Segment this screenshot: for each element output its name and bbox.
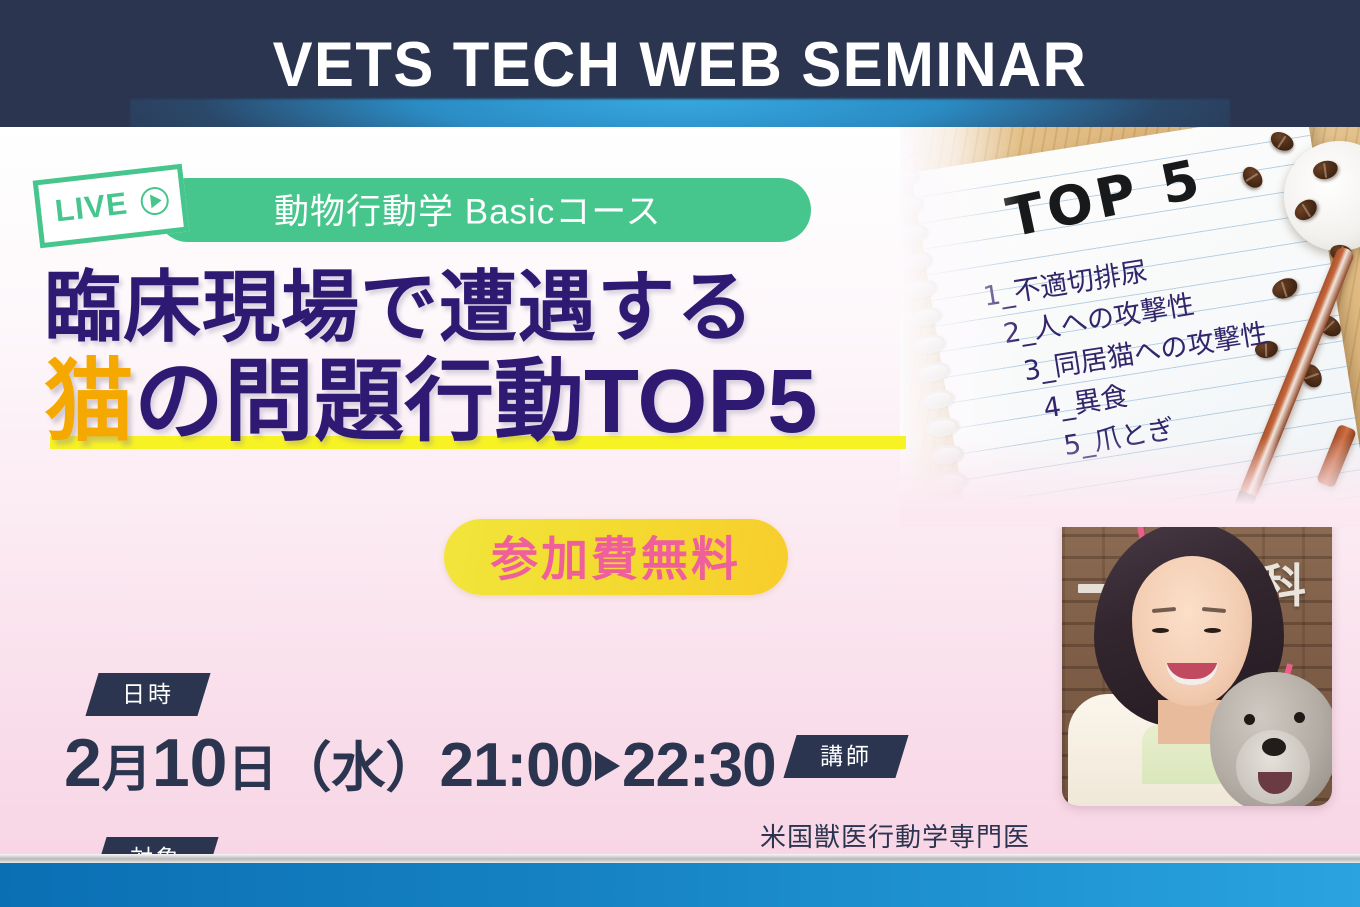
live-badge-label: LIVE <box>53 185 130 229</box>
title-line-2-wrapper: 猫の問題行動TOP5 <box>44 355 817 450</box>
date-month: 2 <box>64 725 102 801</box>
date-day-unit: 日 <box>227 741 277 797</box>
datetime-tag: 日時 <box>85 673 210 716</box>
footer-divider <box>0 854 1360 863</box>
free-participation-badge: 参加費無料 <box>444 519 788 595</box>
date-weekday: （水） <box>277 738 439 798</box>
free-participation-label: 参加費無料 <box>444 520 788 589</box>
date-month-unit: 月 <box>102 741 152 797</box>
poster-body: TOP 5 1_不適切排尿 2_人への攻撃性 3_同居猫への攻撃性 4_異食 5… <box>0 127 1360 854</box>
dog-nose <box>1262 738 1286 756</box>
start-time: 21:00 <box>439 731 593 800</box>
header-band: VETS TECH WEB SEMINAR <box>0 0 1360 127</box>
course-pill-label: 動物行動学 Basicコース <box>274 183 662 234</box>
title-line-1: 臨床現場で遭遇する <box>44 265 817 349</box>
datetime-value: 2月10日（水）21:0022:30 <box>64 729 776 797</box>
footer-band <box>0 863 1360 907</box>
course-pill: 動物行動学 Basicコース <box>156 178 811 242</box>
lecturer-credential: 米国獣医行動学専門医 <box>760 817 1030 854</box>
notebook-photo: TOP 5 1_不適切排尿 2_人への攻撃性 3_同居猫への攻撃性 4_異食 5… <box>900 127 1360 527</box>
title-line-2-rest: の問題行動TOP5 <box>134 352 817 452</box>
target-tag: 対象 <box>93 837 218 854</box>
page-title: VETS TECH WEB SEMINAR <box>34 34 1326 97</box>
lecturer-tag-label: 講師 <box>790 735 902 778</box>
title-highlight-char: 猫 <box>44 352 134 452</box>
title-line-2: 猫の問題行動TOP5 <box>44 355 817 450</box>
seminar-poster: VETS TECH WEB SEMINAR <box>0 0 1360 907</box>
end-time: 22:30 <box>622 731 776 800</box>
target-tag-label: 対象 <box>100 837 212 854</box>
play-circle-icon <box>139 186 170 217</box>
dog-eye <box>1244 714 1255 725</box>
datetime-tag-label: 日時 <box>92 673 204 716</box>
photo-fade-bottom <box>900 437 1360 527</box>
dog-eye <box>1294 712 1305 723</box>
instructor-eye <box>1152 628 1169 633</box>
live-badge: LIVE <box>33 164 190 249</box>
title-block: 臨床現場で遭遇する 猫の問題行動TOP5 <box>44 265 817 451</box>
date-day: 10 <box>152 725 228 801</box>
play-triangle-icon <box>595 751 620 781</box>
instructor-photo: 科 <box>1062 512 1332 806</box>
dog-head <box>1210 672 1332 806</box>
instructor-eye <box>1204 628 1221 633</box>
lecturer-tag: 講師 <box>783 735 908 778</box>
